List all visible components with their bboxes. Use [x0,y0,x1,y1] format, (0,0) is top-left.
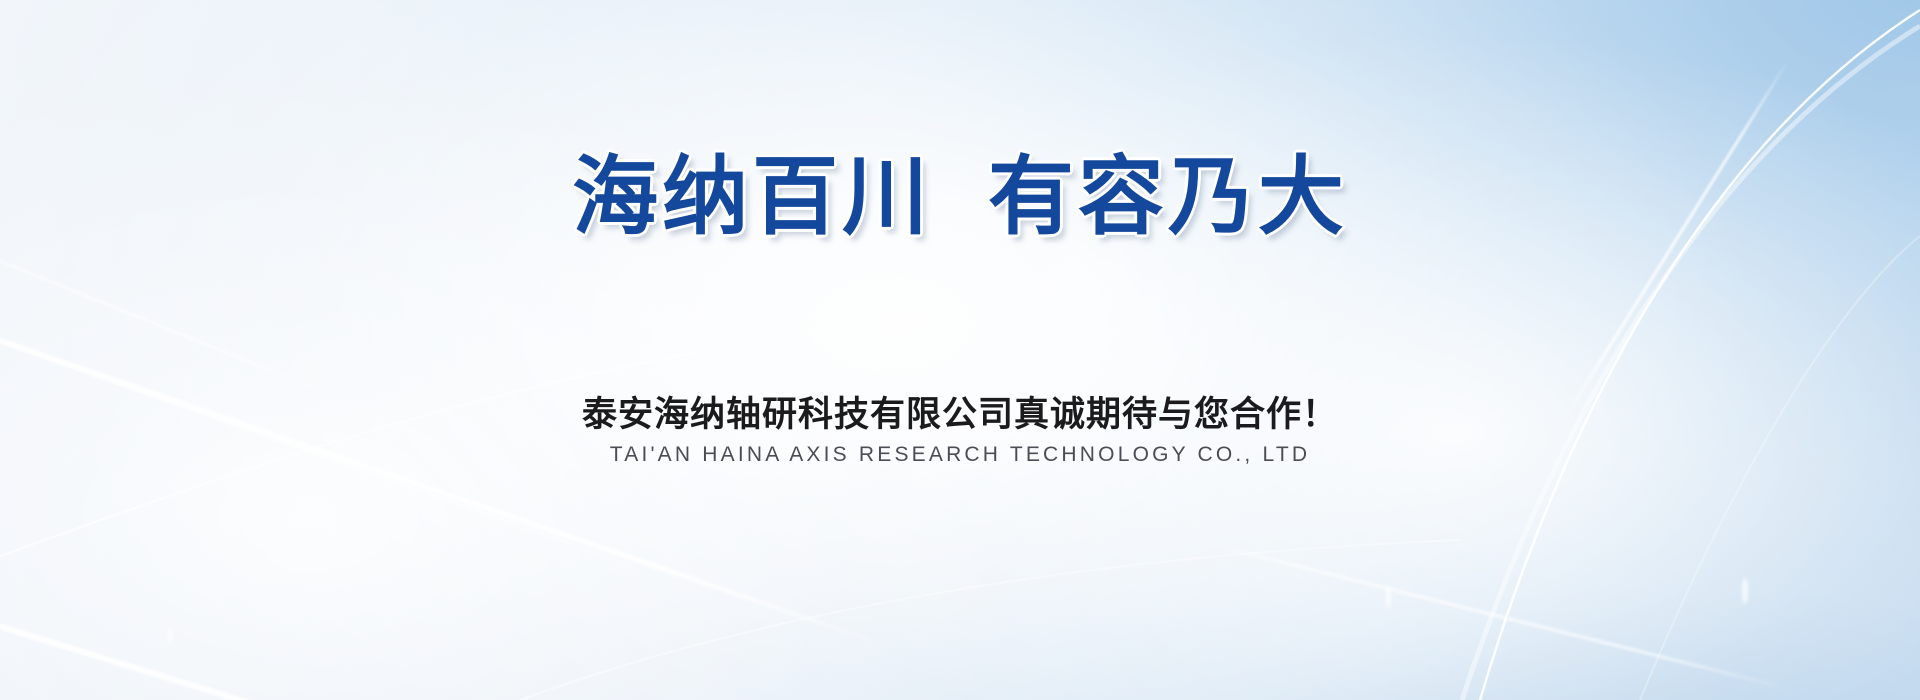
banner-subtitle-english: TAI'AN HAINA AXIS RESEARCH TECHNOLOGY CO… [0,443,1920,467]
banner-subtitle-chinese: 泰安海纳轴研科技有限公司真诚期待与您合作！ [0,386,1920,437]
hero-banner: 海纳百川 有容乃大 泰安海纳轴研科技有限公司真诚期待与您合作！ TAI'AN H… [0,0,1920,700]
banner-content: 海纳百川 有容乃大 泰安海纳轴研科技有限公司真诚期待与您合作！ TAI'AN H… [0,0,1920,700]
banner-headline: 海纳百川 有容乃大 [0,152,1920,242]
